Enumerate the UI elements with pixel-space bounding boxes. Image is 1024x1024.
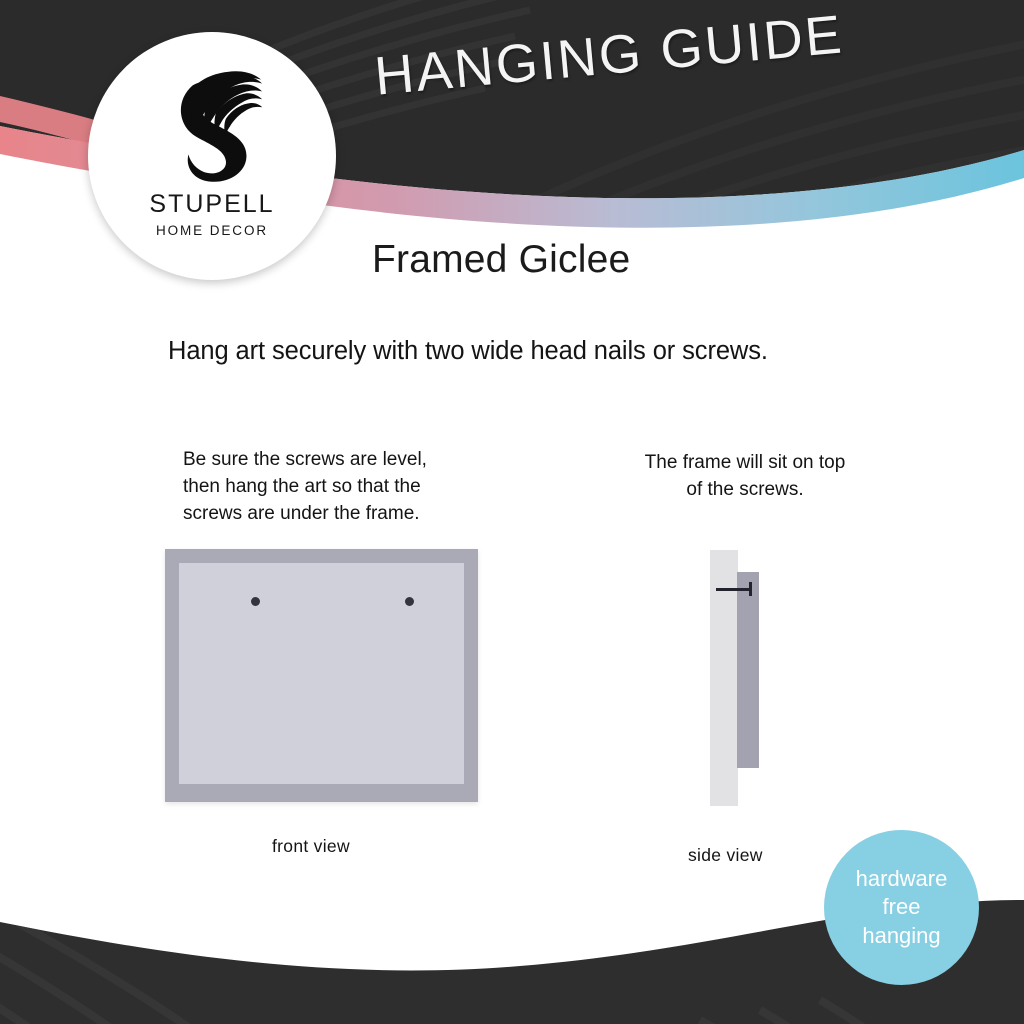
caption-line: then hang the art so that the (183, 474, 483, 501)
stupell-swoosh-icon (153, 56, 271, 184)
front-view-mat (179, 563, 464, 784)
main-instruction: Hang art securely with two wide head nai… (168, 337, 768, 366)
side-view-caption: The frame will sit on top of the screws. (600, 450, 890, 504)
product-name: Framed Giclee (372, 238, 630, 282)
badge-line: hardware (856, 865, 948, 893)
caption-line: Be sure the screws are level, (183, 447, 483, 474)
hanging-guide-page: STUPELL HOME DECOR HANGING GUIDE Framed … (0, 0, 1024, 1024)
screw-dot-left (251, 597, 260, 606)
front-view-caption: Be sure the screws are level, then hang … (183, 447, 483, 528)
caption-line: of the screws. (600, 477, 890, 504)
screw-dot-right (405, 597, 414, 606)
hardware-free-badge: hardware free hanging (824, 830, 979, 985)
nail-head-icon (749, 582, 752, 596)
side-view-frame (737, 572, 759, 768)
caption-line: The frame will sit on top (600, 450, 890, 477)
page-title: HANGING GUIDE (372, 3, 846, 107)
caption-line: screws are under the frame. (183, 501, 483, 528)
logo-tagline: HOME DECOR (156, 223, 268, 238)
side-view-label: side view (688, 845, 763, 866)
brand-logo-badge: STUPELL HOME DECOR (88, 32, 336, 280)
front-view-label: front view (272, 836, 350, 857)
badge-line: hanging (862, 922, 940, 950)
logo-brand-name: STUPELL (149, 190, 274, 219)
nail-icon (716, 588, 752, 591)
front-view-frame (165, 549, 478, 802)
badge-line: free (883, 893, 921, 921)
